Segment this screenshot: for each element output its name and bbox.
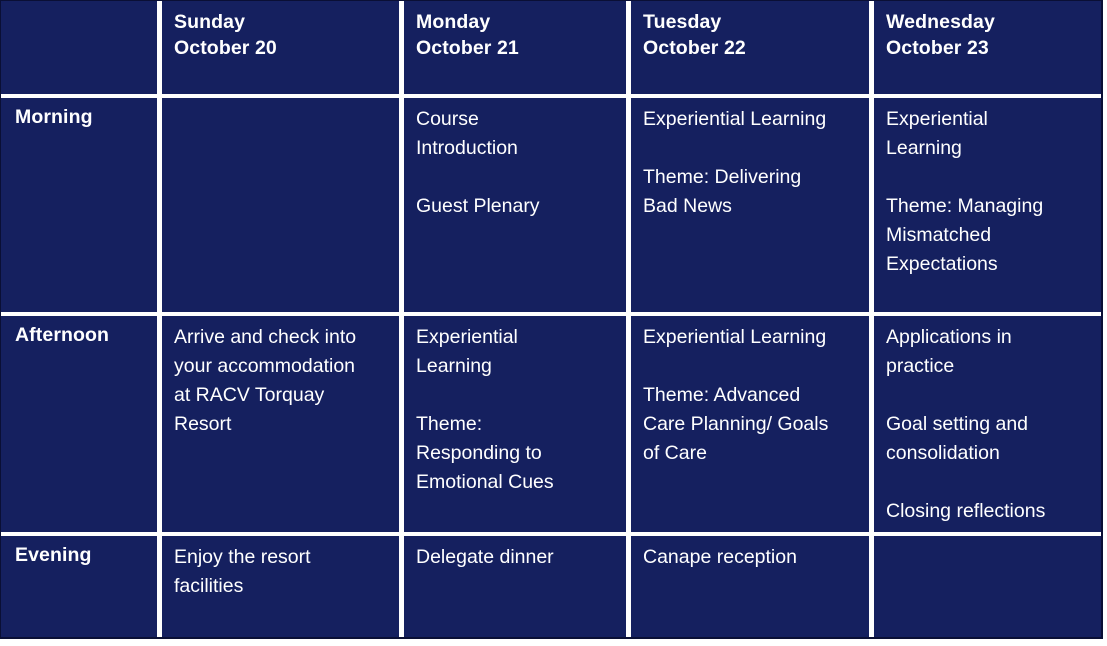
column-header-date: October 21	[416, 35, 616, 61]
row-header-afternoon: Afternoon	[1, 312, 157, 532]
cell-content: Canape reception	[643, 543, 859, 572]
column-header-day-name: Wednesday	[886, 9, 1091, 35]
cell-content: CourseIntroductionGuest Plenary	[416, 105, 616, 221]
cell-afternoon-monday: ExperientialLearningTheme:Responding toE…	[399, 312, 626, 532]
cell-text-block: ExperientialLearning	[886, 105, 1091, 163]
cell-text-block: Guest Plenary	[416, 192, 616, 221]
cell-text-block: Goal setting andconsolidation	[886, 410, 1091, 468]
row-header-evening: Evening	[1, 532, 157, 637]
cell-morning-monday: CourseIntroductionGuest Plenary	[399, 94, 626, 312]
column-header-tuesday: Tuesday October 22	[626, 1, 869, 94]
cell-text-block: Closing reflections	[886, 497, 1091, 526]
cell-text-block: Theme: ManagingMismatchedExpectations	[886, 192, 1091, 279]
cell-afternoon-sunday: Arrive and check intoyour accommodationa…	[157, 312, 399, 532]
cell-text-block: Theme: AdvancedCare Planning/ Goalsof Ca…	[643, 381, 859, 468]
row-header-morning: Morning	[1, 94, 157, 312]
cell-evening-wednesday	[869, 532, 1101, 637]
schedule-table-container: Sunday October 20 Monday October 21 Tues…	[0, 0, 1107, 646]
cell-content: ExperientialLearningTheme: ManagingMisma…	[886, 105, 1091, 279]
cell-content: Delegate dinner	[416, 543, 616, 572]
cell-text-block: Enjoy the resortfacilities	[174, 543, 389, 601]
column-header-sunday: Sunday October 20	[157, 1, 399, 94]
row-label: Afternoon	[15, 323, 147, 347]
cell-text-block: Experiential Learning	[643, 105, 859, 134]
cell-text-block: Canape reception	[643, 543, 859, 572]
cell-content: Experiential LearningTheme: DeliveringBa…	[643, 105, 859, 221]
cell-evening-sunday: Enjoy the resortfacilities	[157, 532, 399, 637]
column-header-day-name: Monday	[416, 9, 616, 35]
cell-text-block: Arrive and check intoyour accommodationa…	[174, 323, 389, 439]
cell-text-block: Applications inpractice	[886, 323, 1091, 381]
row-label: Morning	[15, 105, 147, 129]
cell-text-block: Experiential Learning	[643, 323, 859, 352]
cell-text-block: Theme:Responding toEmotional Cues	[416, 410, 616, 497]
cell-evening-monday: Delegate dinner	[399, 532, 626, 637]
row-label: Evening	[15, 543, 147, 567]
cell-morning-tuesday: Experiential LearningTheme: DeliveringBa…	[626, 94, 869, 312]
column-header-day-name: Tuesday	[643, 9, 859, 35]
column-header-wednesday: Wednesday October 23	[869, 1, 1101, 94]
column-header-date: October 20	[174, 35, 389, 61]
cell-text-block: Theme: DeliveringBad News	[643, 163, 859, 221]
cell-content: Applications inpracticeGoal setting andc…	[886, 323, 1091, 526]
schedule-grid: Sunday October 20 Monday October 21 Tues…	[1, 1, 1101, 637]
cell-afternoon-wednesday: Applications inpracticeGoal setting andc…	[869, 312, 1101, 532]
column-header-date: October 23	[886, 35, 1091, 61]
cell-evening-tuesday: Canape reception	[626, 532, 869, 637]
cell-morning-sunday	[157, 94, 399, 312]
column-header-day-name: Sunday	[174, 9, 389, 35]
cell-content: Arrive and check intoyour accommodationa…	[174, 323, 389, 439]
column-header-monday: Monday October 21	[399, 1, 626, 94]
cell-text-block: CourseIntroduction	[416, 105, 616, 163]
column-header-date: October 22	[643, 35, 859, 61]
cell-morning-wednesday: ExperientialLearningTheme: ManagingMisma…	[869, 94, 1101, 312]
cell-text-block: ExperientialLearning	[416, 323, 616, 381]
cell-content: ExperientialLearningTheme:Responding toE…	[416, 323, 616, 497]
cell-text-block: Delegate dinner	[416, 543, 616, 572]
cell-afternoon-tuesday: Experiential LearningTheme: AdvancedCare…	[626, 312, 869, 532]
table-corner-cell	[1, 1, 157, 94]
cell-content: Experiential LearningTheme: AdvancedCare…	[643, 323, 859, 468]
cell-content: Enjoy the resortfacilities	[174, 543, 389, 601]
